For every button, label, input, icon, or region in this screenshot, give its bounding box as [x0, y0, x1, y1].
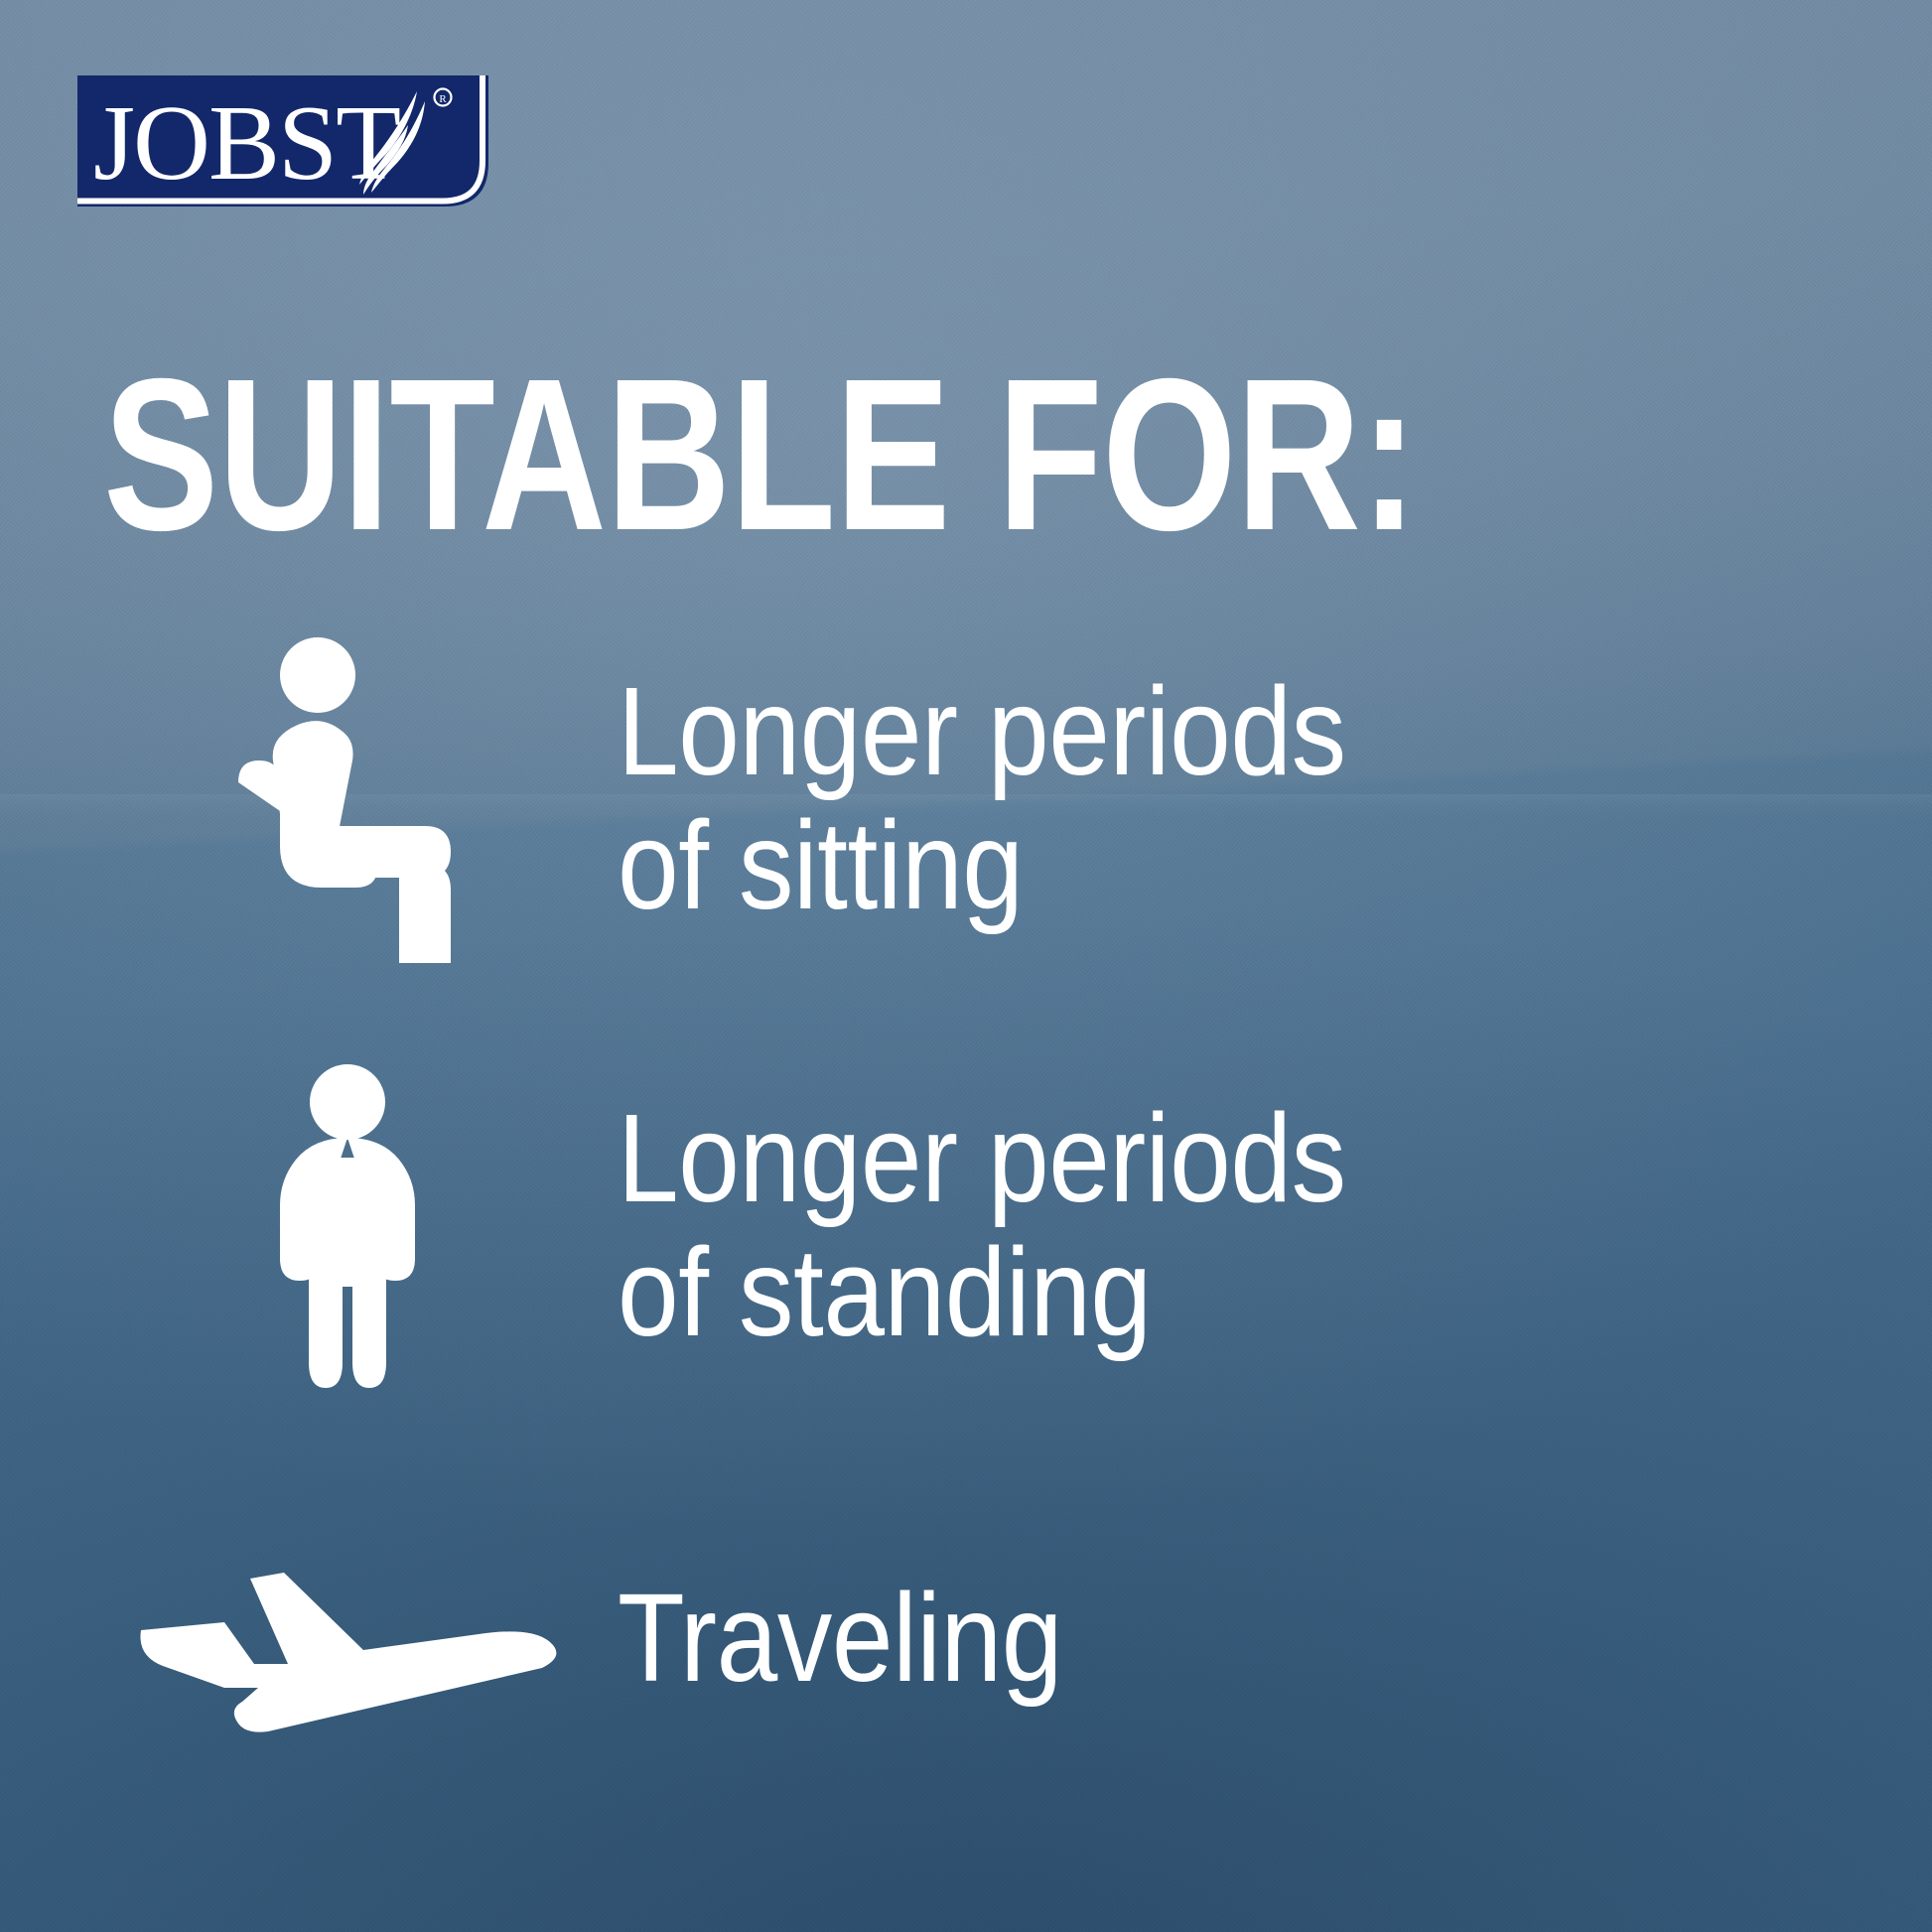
airplane-takeoff-icon: [0, 1539, 695, 1737]
benefit-row-sitting: Longer periods of sitting: [0, 635, 1932, 963]
svg-text:JOBST: JOBST: [93, 84, 400, 203]
benefit-label-traveling: Traveling: [618, 1572, 1062, 1706]
jobst-wordmark: JOBST: [93, 84, 400, 203]
benefit-label-sitting: Longer periods of sitting: [618, 665, 1346, 933]
page-title: SUITABLE FOR:: [103, 347, 1417, 564]
benefit-row-standing: Longer periods of standing: [0, 1062, 1932, 1390]
benefit-row-traveling: Traveling: [0, 1519, 1932, 1757]
svg-text:R: R: [439, 93, 447, 105]
suitable-for-graphic: JOBST R SUITABLE FOR:: [0, 0, 1932, 1932]
benefit-label-standing: Longer periods of standing: [618, 1092, 1346, 1360]
person-standing-icon: [0, 1062, 695, 1390]
person-sitting-icon: [0, 635, 695, 963]
jobst-logo[interactable]: JOBST R: [77, 75, 488, 207]
